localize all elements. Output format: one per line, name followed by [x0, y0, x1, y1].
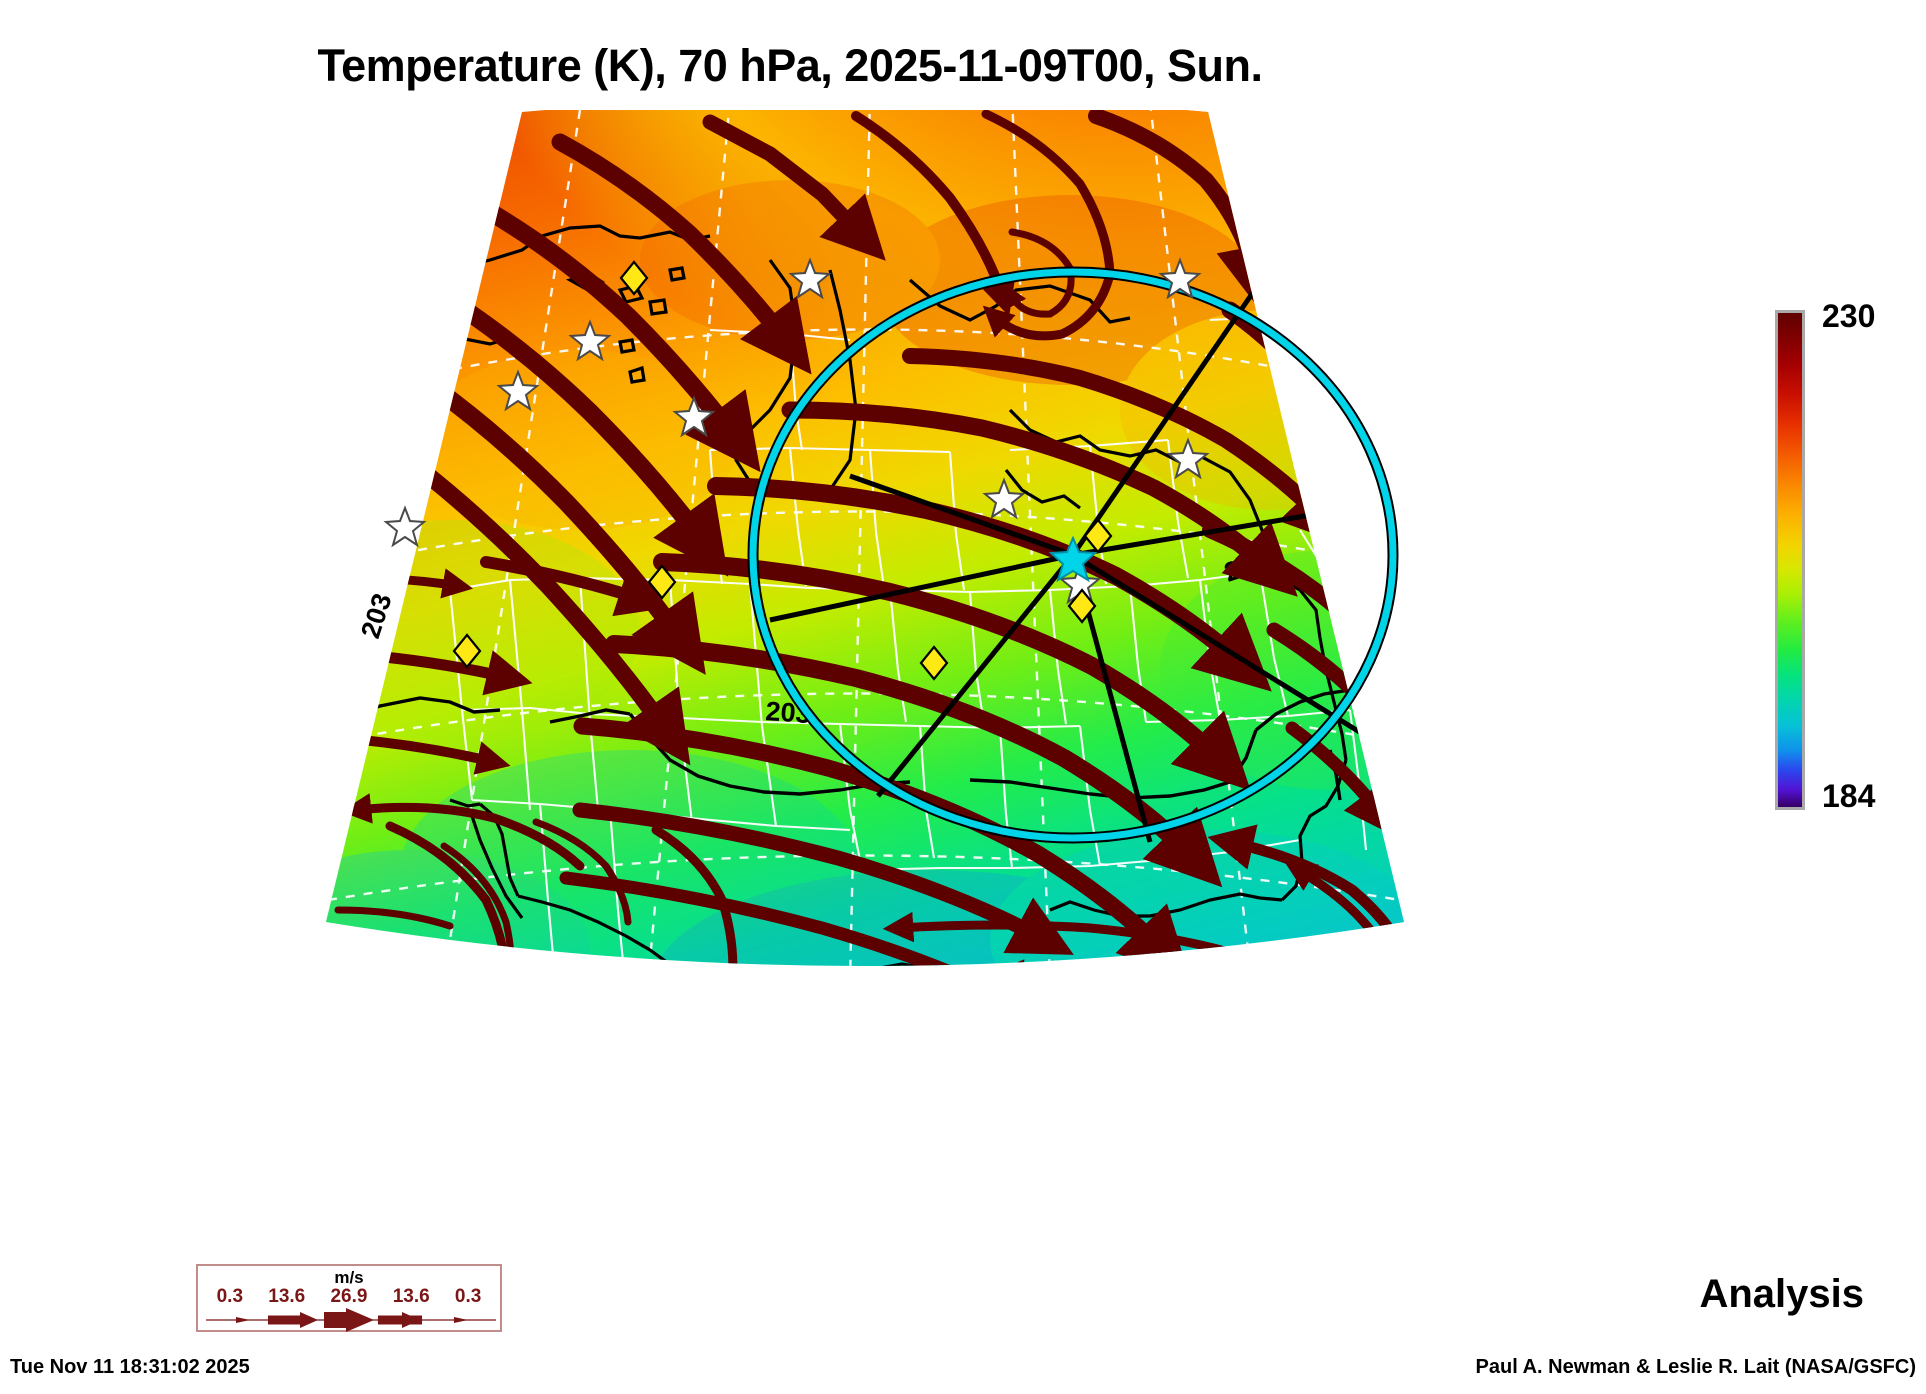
temperature-map-figure: Temperature (K), 70 hPa, 2025-11-09T00, …: [0, 0, 1926, 1394]
wind-value-3: 13.6: [393, 1286, 430, 1308]
wind-scale-legend: m/s 0.3 13.6 26.9 13.6 0.3: [196, 1264, 502, 1332]
page-title: Temperature (K), 70 hPa, 2025-11-09T00, …: [0, 40, 1580, 92]
streamline: [1010, 972, 1200, 977]
streamline: [790, 986, 1080, 1002]
streamline: [336, 579, 458, 586]
wind-value-0: 0.3: [217, 1286, 243, 1308]
analysis-label: Analysis: [1699, 1272, 1864, 1317]
generation-timestamp: Tue Nov 11 18:31:02 2025: [10, 1356, 250, 1379]
map-canvas[interactable]: 203 203 203: [150, 110, 1580, 1220]
author-credit: Paul A. Newman & Leslie R. Lait (NASA/GS…: [1476, 1356, 1916, 1379]
wind-scale-arrow: [206, 1308, 496, 1332]
star-marker[interactable]: [386, 508, 424, 545]
colorbar-min-label: 184: [1822, 778, 1875, 815]
wind-units-label: m/s: [198, 1268, 500, 1288]
colorbar-max-label: 230: [1822, 298, 1875, 335]
wind-scale-values: 0.3 13.6 26.9 13.6 0.3: [198, 1286, 500, 1308]
wind-value-2: 26.9: [330, 1286, 367, 1308]
colorbar-frame: [1775, 310, 1805, 810]
contour-label-203-west: 203: [355, 590, 397, 642]
wind-value-1: 13.6: [268, 1286, 305, 1308]
wind-value-4: 0.3: [455, 1286, 481, 1308]
map-panel[interactable]: 203 203 203: [150, 110, 1580, 1220]
colorbar: [1775, 310, 1805, 810]
